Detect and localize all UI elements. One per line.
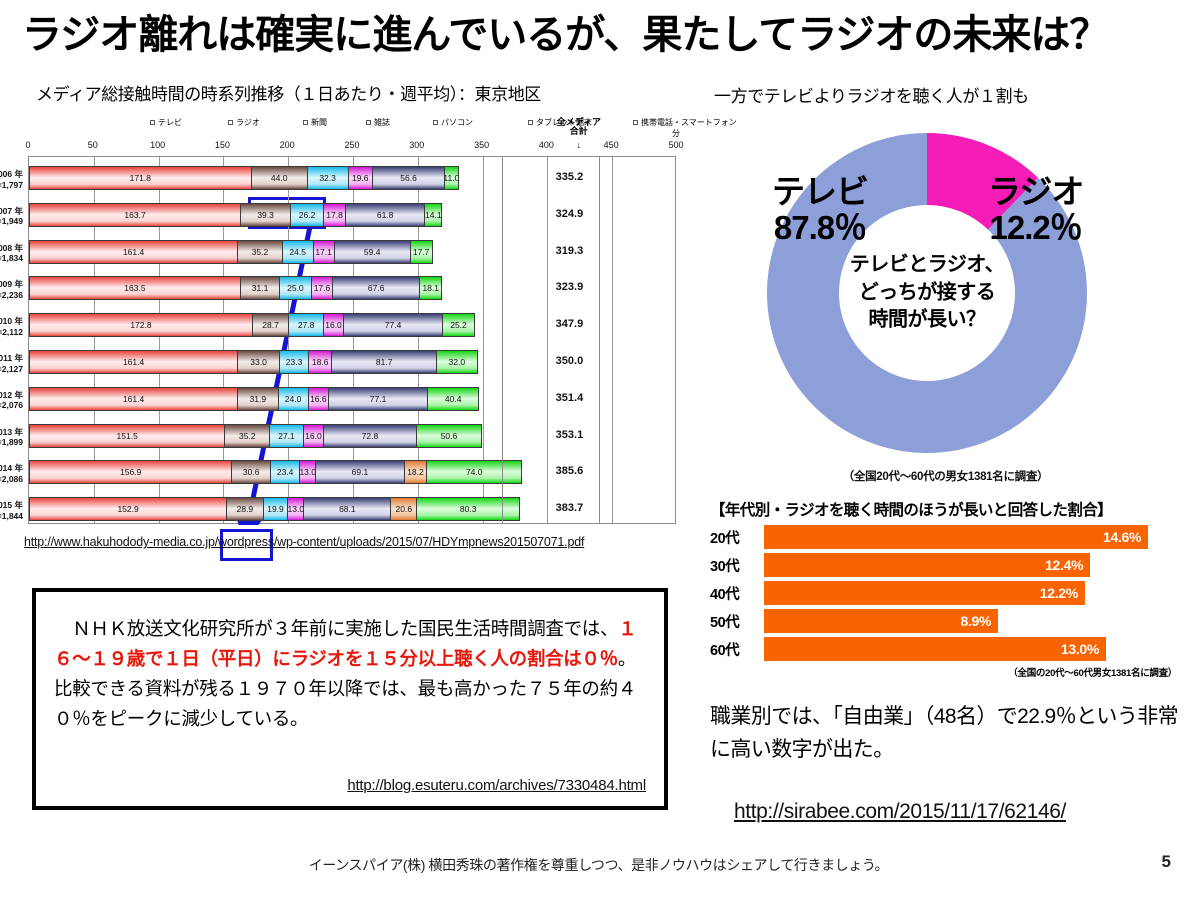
age-bar: 13.0% — [764, 637, 1106, 661]
bar-segment-value: 17.7 — [413, 247, 430, 257]
bar-segment-4: 67.6 — [332, 276, 420, 300]
bar-segment-value: 156.9 — [120, 467, 141, 477]
age-bar-value: 8.9% — [960, 613, 991, 629]
age-bar-track: 8.9% — [764, 609, 1185, 633]
bar-segment-1: 39.3 — [240, 203, 291, 227]
bar-segment-value: 32.3 — [319, 173, 336, 183]
bar-segment-value: 77.4 — [385, 320, 402, 330]
bar-segment-value: 25.0 — [287, 283, 304, 293]
year-label: 2014 年N=2,086 — [0, 463, 23, 484]
bar-segment-value: 25.2 — [450, 320, 467, 330]
total-value: 353.1 — [534, 429, 604, 441]
age-chart-title: 【年代別・ラジオを聴く時間のほうが長いと回答した割合】 — [710, 498, 1185, 520]
bar-segment-value: 16.0 — [325, 320, 342, 330]
bar-segment-2: 24.5 — [282, 240, 314, 264]
media-chart-caption: メディア総接触時間の時系列推移（１日あたり・週平均）：東京地区 — [36, 80, 541, 105]
bar-segment-0: 156.9 — [29, 460, 232, 484]
bar-segment-2: 23.4 — [270, 460, 300, 484]
sirabee-source-link[interactable]: http://sirabee.com/2015/11/17/62146/ — [734, 800, 1066, 824]
bar-segment-value: 74.0 — [466, 467, 483, 477]
bar-segment-value: 151.5 — [117, 431, 138, 441]
age-bar-label: 20代 — [710, 527, 764, 548]
bar-segment-value: 17.6 — [314, 283, 331, 293]
age-bar-row: 40代12.2% — [710, 581, 1185, 605]
bar-segment-value: 23.3 — [286, 357, 303, 367]
age-group-bar-chart: 【年代別・ラジオを聴く時間のほうが長いと回答した割合】 20代14.6%30代1… — [710, 498, 1185, 679]
bar-segment-value: 17.1 — [315, 247, 332, 257]
bar-segment-value: 19.6 — [352, 173, 369, 183]
bar-segment-value: 16.0 — [305, 431, 322, 441]
legend-item-2: 新聞 — [303, 117, 327, 128]
legend-swatch-icon — [528, 120, 533, 125]
bar-segment-value: 27.8 — [298, 320, 315, 330]
bar-segment-value: 28.7 — [262, 320, 279, 330]
bar-segment-0: 161.4 — [29, 350, 238, 374]
legend-item-1: ラジオ — [228, 117, 260, 128]
age-bar: 8.9% — [764, 609, 998, 633]
bar-segment-value: 18.2 — [407, 467, 424, 477]
age-bar-row: 60代13.0% — [710, 637, 1185, 661]
legend-label: テレビ — [158, 117, 182, 128]
total-value: 335.2 — [534, 171, 604, 183]
bar-segment-value: 18.6 — [312, 357, 329, 367]
bar-segment-1: 33.0 — [237, 350, 280, 374]
bar-segment-value: 68.1 — [339, 504, 356, 514]
bar-segment-value: 67.6 — [368, 283, 385, 293]
age-bar-row: 20代14.6% — [710, 525, 1185, 549]
nhk-quote-lead: ＮＨＫ放送文化研究所が３年前に実施した国民生活時間調査では、 — [54, 618, 618, 639]
legend-item-3: 雑誌 — [366, 117, 390, 128]
age-bar: 12.4% — [764, 553, 1090, 577]
axis-tick-300: 300 — [409, 140, 424, 150]
bar-segment-0: 161.4 — [29, 387, 238, 411]
age-bar-row: 50代8.9% — [710, 609, 1185, 633]
donut-survey-note: （全国20代～60代の男女1381名に調査） — [694, 468, 1197, 484]
legend-label: 雑誌 — [374, 117, 390, 128]
total-value: 383.7 — [534, 502, 604, 514]
age-bar-value: 14.6% — [1103, 529, 1141, 545]
page-number: 5 — [1162, 852, 1171, 872]
bar-segment-value: 163.5 — [124, 283, 145, 293]
bar-segment-3: 13.0 — [287, 497, 304, 521]
axis-tick-150: 150 — [215, 140, 230, 150]
axis-unit-label: 分 — [672, 130, 680, 138]
media-stacked-bar-chart: テレビラジオ新聞雑誌パソコンタブレット端末携帯電話・スマートフォン 050100… — [28, 114, 676, 534]
bar-segment-value: 171.8 — [130, 173, 151, 183]
bar-segment-2: 25.0 — [279, 276, 311, 300]
axis-tick-450: 450 — [604, 140, 619, 150]
bar-segment-value: 24.5 — [289, 247, 306, 257]
bar-segment-0: 171.8 — [29, 166, 252, 190]
bar-segment-value: 56.6 — [400, 173, 417, 183]
tv-vs-radio-donut-chart: テレビとラジオ、どっちが接する時間が長い？ テレビ 87.8％ ラジオ 12.2… — [752, 118, 1102, 468]
nhk-source-link[interactable]: http://blog.esuteru.com/archives/7330484… — [347, 777, 646, 794]
donut-label-radio-value: 12.2％ — [988, 210, 1083, 246]
bar-segment-3: 17.8 — [323, 203, 346, 227]
bar-segment-value: 163.7 — [124, 210, 145, 220]
donut-caption: 一方でテレビよりラジオを聴く人が１割も — [714, 82, 1029, 107]
bar-segment-2: 26.2 — [290, 203, 324, 227]
bar-segment-2: 27.1 — [269, 424, 304, 448]
chart-source-link[interactable]: http://www.hakuhodody-media.co.jp/wordpr… — [24, 535, 584, 549]
bar-segment-value: 16.6 — [310, 394, 327, 404]
bar-segment-0: 161.4 — [29, 240, 238, 264]
age-bar-track: 13.0% — [764, 637, 1185, 661]
bar-segment-value: 28.9 — [237, 504, 254, 514]
bar-segment-value: 77.1 — [370, 394, 387, 404]
donut-label-tv: テレビ 87.8％ — [772, 174, 868, 245]
bar-segment-value: 161.4 — [123, 394, 144, 404]
page-title: ラジオ離れは確実に進んでいるが、果たしてラジオの未来は？ — [22, 12, 1177, 58]
legend-swatch-icon — [433, 120, 438, 125]
donut-label-radio-name: ラジオ — [988, 174, 1083, 210]
bar-segment-value: 20.6 — [396, 504, 413, 514]
bar-segment-6: 17.7 — [410, 240, 433, 264]
age-bar-label: 40代 — [710, 583, 764, 604]
age-bar-track: 14.6% — [764, 525, 1185, 549]
bar-segment-6: 40.4 — [427, 387, 479, 411]
bar-segment-value: 11.0 — [444, 173, 458, 183]
bar-segment-3: 16.0 — [303, 424, 324, 448]
bar-segment-value: 172.8 — [130, 320, 151, 330]
axis-tick-50: 50 — [88, 140, 98, 150]
age-bar-label: 50代 — [710, 611, 764, 632]
bar-segment-value: 31.9 — [250, 394, 267, 404]
legend-item-6: 携帯電話・スマートフォン — [633, 117, 737, 128]
age-chart-survey-note: （全国の20代～60代男女1381名に調査） — [710, 665, 1185, 679]
legend-swatch-icon — [228, 120, 233, 125]
donut-label-tv-value: 87.8％ — [772, 210, 868, 246]
bar-segment-0: 172.8 — [29, 313, 253, 337]
bar-segment-3: 19.6 — [348, 166, 373, 190]
bar-segment-0: 152.9 — [29, 497, 227, 521]
age-bar-track: 12.2% — [764, 581, 1185, 605]
bar-segment-value: 35.2 — [239, 431, 256, 441]
total-value: 324.9 — [534, 208, 604, 220]
total-value: 323.9 — [534, 281, 604, 293]
total-value: 351.4 — [534, 392, 604, 404]
age-bar: 12.2% — [764, 581, 1085, 605]
bar-segment-2: 27.8 — [288, 313, 324, 337]
axis-tick-500: 500 — [668, 140, 683, 150]
bar-segment-value: 40.4 — [445, 394, 462, 404]
year-label: 2009 年N=2,236 — [0, 279, 23, 300]
bar-segment-value: 81.7 — [376, 357, 393, 367]
bar-segment-3: 17.1 — [313, 240, 335, 264]
donut-center-line: 時間が長い？ — [820, 307, 1035, 335]
bar-segment-1: 44.0 — [251, 166, 308, 190]
bar-segment-value: 13.0 — [288, 504, 305, 514]
legend-label: ラジオ — [236, 117, 260, 128]
age-bar: 14.6% — [764, 525, 1148, 549]
age-bar-label: 60代 — [710, 639, 764, 660]
total-value: 319.3 — [534, 245, 604, 257]
axis-tick-350: 350 — [474, 140, 489, 150]
bar-segment-value: 161.4 — [123, 357, 144, 367]
bar-segment-value: 24.0 — [285, 394, 302, 404]
bar-segment-5: 20.6 — [390, 497, 417, 521]
bar-segment-value: 69.1 — [352, 467, 369, 477]
legend-swatch-icon — [633, 120, 638, 125]
total-column-divider-0 — [502, 157, 503, 523]
bar-segment-value: 17.8 — [326, 210, 343, 220]
bar-segment-6: 25.2 — [442, 313, 475, 337]
bar-segment-1: 35.2 — [237, 240, 283, 264]
legend-label: 新聞 — [311, 117, 327, 128]
bar-segment-3: 16.6 — [308, 387, 330, 411]
year-label: 2008 年N=1,834 — [0, 243, 23, 264]
bar-segment-4: 77.1 — [328, 387, 428, 411]
donut-center-line: どっちが接する — [820, 279, 1035, 307]
total-value: 347.9 — [534, 318, 604, 330]
legend-item-4: パソコン — [433, 117, 473, 128]
bar-segment-value: 14.1 — [425, 210, 442, 220]
bar-segment-3: 16.0 — [323, 313, 344, 337]
footer-copyright-text: イーンスパイア(株) 横田秀珠の著作権を尊重しつつ、是非ノウハウはシェアして行き… — [0, 855, 1197, 875]
legend-swatch-icon — [366, 120, 371, 125]
year-label: 2015 年N=1,844 — [0, 500, 23, 521]
age-chart-rows: 20代14.6%30代12.4%40代12.2%50代8.9%60代13.0% — [710, 525, 1185, 661]
nhk-quote-box: ＮＨＫ放送文化研究所が３年前に実施した国民生活時間調査では、１６～１９歳で１日（… — [32, 588, 668, 810]
bar-segment-value: 19.9 — [267, 504, 284, 514]
bar-segment-value: 33.0 — [250, 357, 267, 367]
legend-label: 携帯電話・スマートフォン — [641, 117, 737, 128]
bar-segment-6: 80.3 — [416, 497, 520, 521]
nhk-quote-text: ＮＨＫ放送文化研究所が３年前に実施した国民生活時間調査では、１６～１９歳で１日（… — [54, 614, 644, 734]
bar-segment-2: 23.3 — [279, 350, 309, 374]
total-value: 350.0 — [534, 355, 604, 367]
bar-segment-1: 28.7 — [252, 313, 289, 337]
bar-segment-1: 28.9 — [226, 497, 263, 521]
axis-tick-200: 200 — [280, 140, 295, 150]
donut-center-question: テレビとラジオ、どっちが接する時間が長い？ — [820, 252, 1035, 335]
job-category-text: 職業別では、「自由業」（48名）で22.9％という非常に高い数字が出た。 — [710, 700, 1190, 766]
year-label: 2012 年N=2,076 — [0, 390, 23, 411]
donut-label-radio: ラジオ 12.2％ — [988, 174, 1083, 245]
bar-segment-value: 31.1 — [252, 283, 269, 293]
bar-segment-6: 32.0 — [436, 350, 477, 374]
bar-segment-value: 30.6 — [243, 467, 260, 477]
chart-x-axis: 050100150200250300350400450500分全メディア合計↓ — [28, 140, 676, 154]
bar-segment-value: 61.8 — [377, 210, 394, 220]
bar-segment-value: 50.6 — [441, 431, 458, 441]
year-label: 2010 年N=2,112 — [0, 316, 23, 337]
donut-center-line: テレビとラジオ、 — [820, 252, 1035, 280]
age-bar-row: 30代12.4% — [710, 553, 1185, 577]
bar-segment-0: 163.7 — [29, 203, 241, 227]
bar-segment-1: 31.9 — [237, 387, 278, 411]
bar-segment-4: 72.8 — [323, 424, 417, 448]
bar-segment-value: 26.2 — [299, 210, 316, 220]
bar-segment-4: 77.4 — [343, 313, 443, 337]
bar-segment-4: 56.6 — [372, 166, 445, 190]
year-label: 2013 年N=1,899 — [0, 427, 23, 448]
bar-segment-4: 59.4 — [334, 240, 411, 264]
axis-tick-400: 400 — [539, 140, 554, 150]
legend-swatch-icon — [303, 120, 308, 125]
bar-segment-value: 35.2 — [252, 247, 269, 257]
bar-segment-value: 18.1 — [422, 283, 439, 293]
bar-segment-4: 68.1 — [303, 497, 391, 521]
legend-item-0: テレビ — [150, 117, 182, 128]
bar-segment-value: 80.3 — [460, 504, 477, 514]
axis-tick-0: 0 — [25, 140, 30, 150]
donut-label-tv-name: テレビ — [772, 174, 868, 210]
bar-segment-2: 32.3 — [307, 166, 349, 190]
axis-tick-250: 250 — [344, 140, 359, 150]
total-column-divider-1 — [599, 157, 600, 523]
bar-segment-6: 18.1 — [419, 276, 442, 300]
bar-segment-value: 152.9 — [117, 504, 138, 514]
bar-segment-value: 13.0 — [299, 467, 316, 477]
total-value: 385.6 — [534, 465, 604, 477]
year-label: 2006 年N=1,797 — [0, 169, 23, 190]
bar-segment-2: 19.9 — [263, 497, 289, 521]
age-bar-value: 12.4% — [1045, 557, 1083, 573]
age-bar-label: 30代 — [710, 555, 764, 576]
bar-segment-1: 35.2 — [224, 424, 270, 448]
bar-segment-value: 39.3 — [257, 210, 274, 220]
age-bar-value: 13.0% — [1061, 641, 1099, 657]
bar-segment-value: 23.4 — [277, 467, 294, 477]
year-label: 2007 年N=1,949 — [0, 206, 23, 227]
bar-segment-6: 11.0 — [444, 166, 458, 190]
legend-label: パソコン — [441, 117, 473, 128]
bar-segment-3: 13.0 — [299, 460, 316, 484]
bar-segment-value: 32.0 — [449, 357, 466, 367]
bar-segment-5: 18.2 — [404, 460, 428, 484]
bar-segment-value: 72.8 — [362, 431, 379, 441]
bar-segment-2: 24.0 — [278, 387, 309, 411]
bar-segment-4: 81.7 — [331, 350, 437, 374]
bar-segment-4: 69.1 — [315, 460, 405, 484]
bar-segment-value: 44.0 — [271, 173, 288, 183]
bar-segment-3: 18.6 — [308, 350, 332, 374]
bar-segment-1: 30.6 — [231, 460, 271, 484]
bar-segment-1: 31.1 — [240, 276, 280, 300]
bar-segment-value: 59.4 — [364, 247, 381, 257]
age-bar-track: 12.4% — [764, 553, 1185, 577]
bar-segment-6: 74.0 — [426, 460, 522, 484]
total-column-arrow-icon: ↓ — [577, 140, 582, 150]
axis-tick-100: 100 — [150, 140, 165, 150]
legend-swatch-icon — [150, 120, 155, 125]
total-column-header: 全メディア合計 — [557, 118, 601, 137]
bar-segment-0: 151.5 — [29, 424, 225, 448]
bar-segment-6: 50.6 — [416, 424, 482, 448]
chart-plot-area: 171.844.032.319.656.611.02006 年N=1,79733… — [28, 156, 676, 524]
age-bar-value: 12.2% — [1040, 585, 1078, 601]
bar-segment-6: 14.1 — [424, 203, 442, 227]
bar-segment-4: 61.8 — [345, 203, 425, 227]
bar-segment-3: 17.6 — [311, 276, 334, 300]
bar-segment-0: 163.5 — [29, 276, 241, 300]
bar-segment-value: 161.4 — [123, 247, 144, 257]
bar-segment-value: 27.1 — [278, 431, 295, 441]
year-label: 2011 年N=2,127 — [0, 353, 23, 374]
